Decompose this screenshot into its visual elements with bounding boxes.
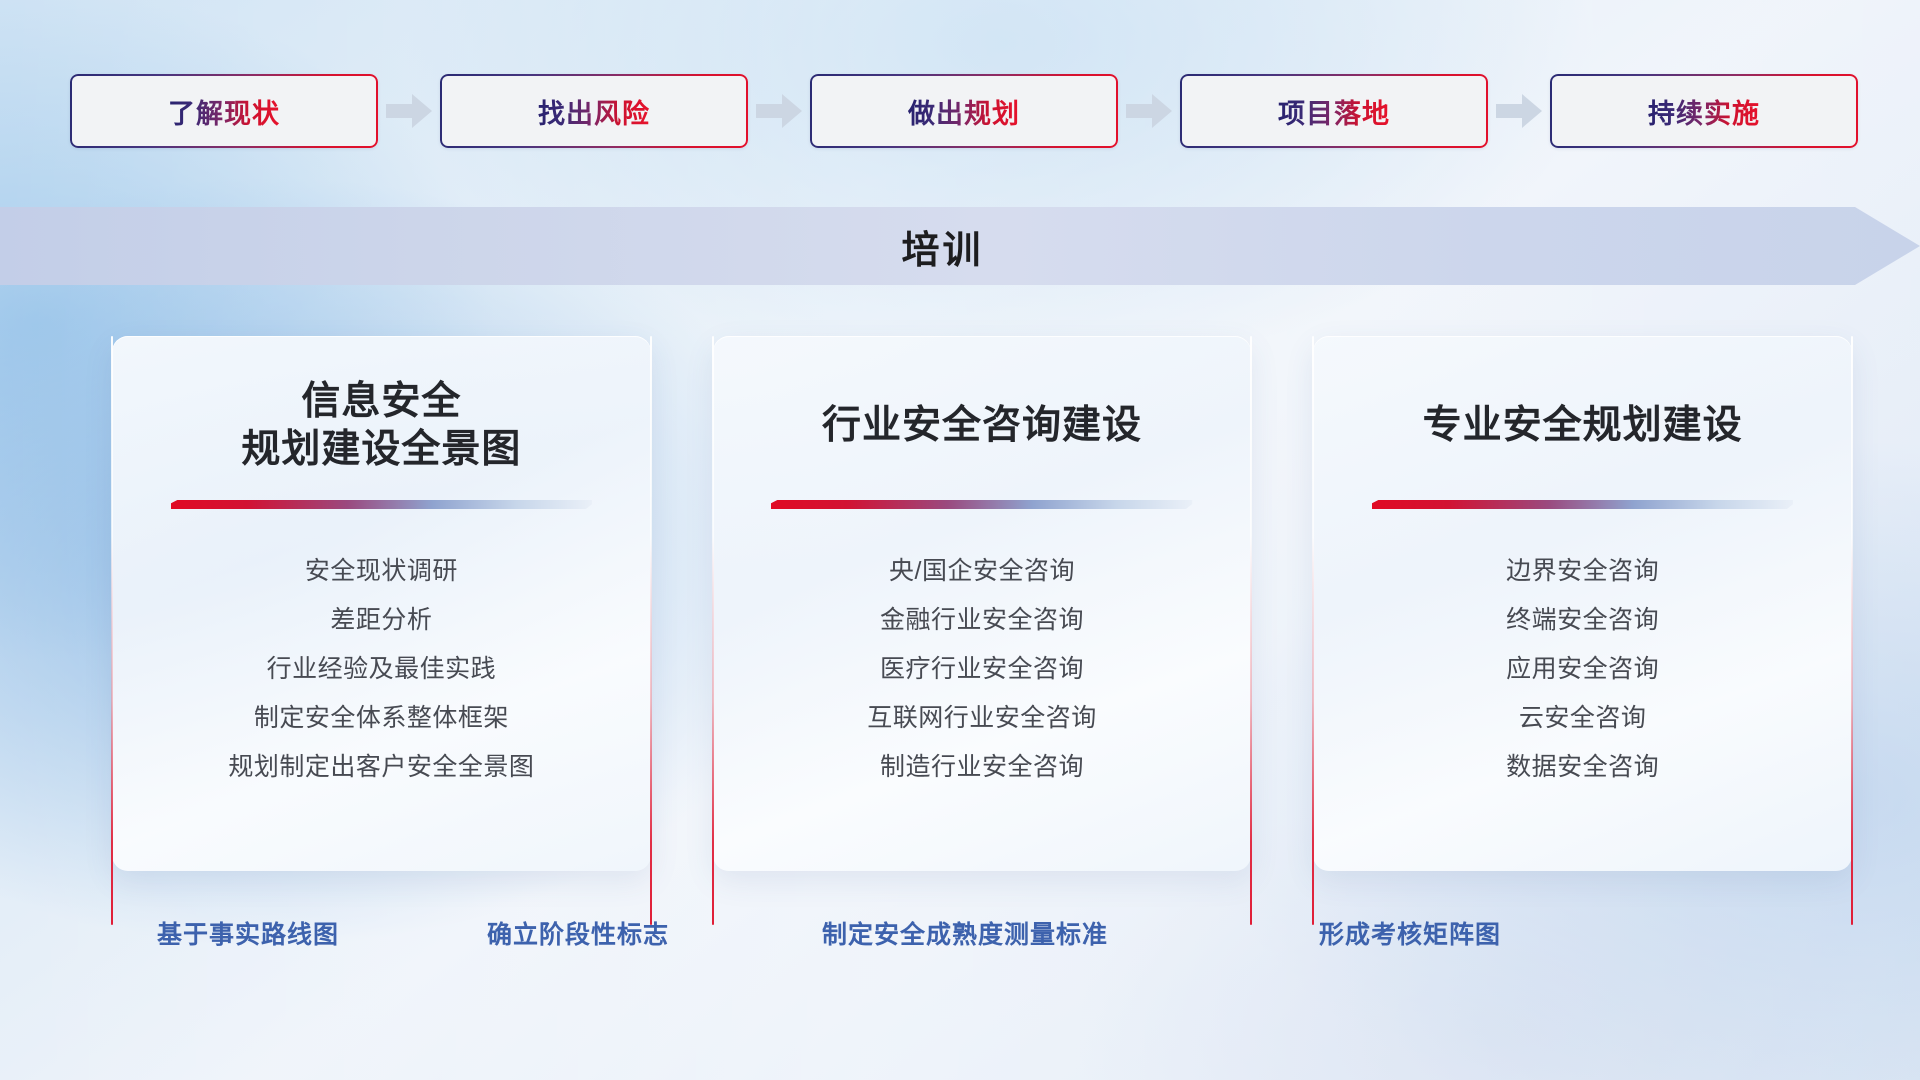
list-item: 规划制定出客户安全全景图 [142,743,621,792]
caption-1: 基于事实路线图 [157,915,339,951]
card-3-list: 边界安全咨询 终端安全咨询 应用安全咨询 云安全咨询 数据安全咨询 [1343,547,1822,792]
list-item: 制造行业安全咨询 [743,743,1222,792]
step-box-2[interactable]: 找出风险 [440,74,748,148]
step-box-5[interactable]: 持续实施 [1550,74,1858,148]
training-banner: 培训 [0,207,1920,285]
list-item: 互联网行业安全咨询 [743,694,1222,743]
card-2-list: 央/国企安全咨询 金融行业安全咨询 医疗行业安全咨询 互联网行业安全咨询 制造行… [743,547,1222,792]
list-item: 行业经验及最佳实践 [142,645,621,694]
caption-4: 形成考核矩阵图 [1319,915,1501,951]
list-item: 数据安全咨询 [1343,743,1822,792]
slide-canvas: 了解现状 找出风险 做出规划 项目落地 [0,0,1920,1080]
step-arrow-icon-4 [1488,90,1550,132]
caption-row: 基于事实路线图 确立阶段性标志 制定安全成熟度测量标准 形成考核矩阵图 [0,915,1920,959]
step-label-1: 了解现状 [168,92,280,131]
list-item: 医疗行业安全咨询 [743,645,1222,694]
list-item: 金融行业安全咨询 [743,596,1222,645]
step-label-2: 找出风险 [538,92,650,131]
step-arrow-icon-2 [748,90,810,132]
step-label-5: 持续实施 [1648,92,1760,131]
step-arrow-icon-3 [1118,90,1180,132]
card-2-divider [771,500,1192,509]
card-2-title: 行业安全咨询建设 [743,378,1222,474]
step-box-3[interactable]: 做出规划 [810,74,1118,148]
list-item: 安全现状调研 [142,547,621,596]
card-row: 信息安全 规划建设全景图 [112,336,1852,871]
list-item: 制定安全体系整体框架 [142,694,621,743]
list-item: 终端安全咨询 [1343,596,1822,645]
step-box-4[interactable]: 项目落地 [1180,74,1488,148]
step-box-1[interactable]: 了解现状 [70,74,378,148]
list-item: 央/国企安全咨询 [743,547,1222,596]
step-label-4: 项目落地 [1278,92,1390,131]
card-3-title: 专业安全规划建设 [1343,378,1822,474]
card-2[interactable]: 行业安全咨询建设 [713,336,1252,871]
list-item: 云安全咨询 [1343,694,1822,743]
step-label-3: 做出规划 [908,92,1020,131]
card-3-divider [1372,500,1793,509]
list-item: 边界安全咨询 [1343,547,1822,596]
card-1-title-line-1: 信息安全 [241,378,521,426]
list-item: 差距分析 [142,596,621,645]
caption-3: 制定安全成熟度测量标准 [822,915,1108,951]
caption-2: 确立阶段性标志 [487,915,669,951]
card-1-list: 安全现状调研 差距分析 行业经验及最佳实践 制定安全体系整体框架 规划制定出客户… [142,547,621,792]
process-step-row: 了解现状 找出风险 做出规划 项目落地 [70,74,1858,148]
list-item: 应用安全咨询 [1343,645,1822,694]
card-1-divider [171,500,592,509]
card-1-title: 信息安全 规划建设全景图 [142,378,621,474]
card-3[interactable]: 专业安全规划建设 [1313,336,1852,871]
training-banner-label: 培训 [0,207,1885,285]
step-arrow-icon-1 [378,90,440,132]
card-1-title-line-2: 规划建设全景图 [241,426,521,474]
card-1[interactable]: 信息安全 规划建设全景图 [112,336,651,871]
